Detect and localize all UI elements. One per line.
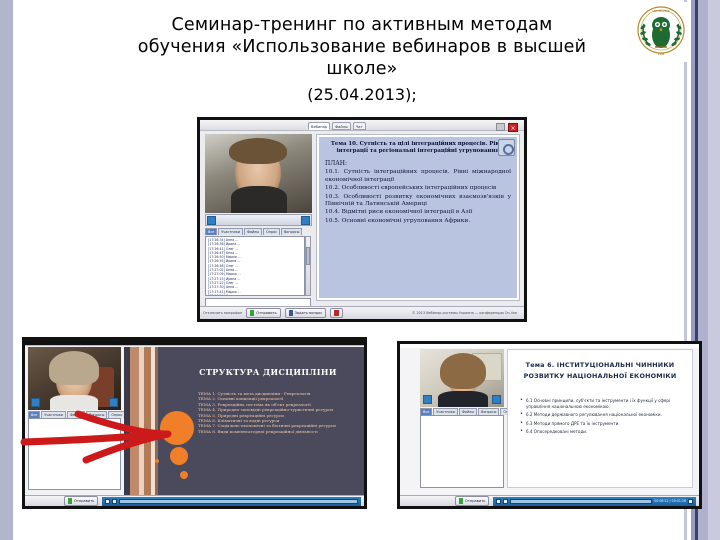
- chat-tabs[interactable]: Все Участники Файлы Вопросы Опрос: [420, 408, 517, 415]
- speaker-icon[interactable]: [301, 216, 310, 225]
- stop-icon[interactable]: [112, 499, 117, 504]
- webinar-window-main[interactable]: Вебинар Файлы Чат × Все Участники Файлы: [197, 117, 527, 322]
- video-shoulders: [438, 391, 488, 407]
- svg-text:UNIVERSITAS: UNIVERSITAS: [652, 9, 669, 13]
- chat-tab-questions[interactable]: Вопросы: [478, 408, 499, 415]
- left-edge-stripe: [0, 0, 13, 540]
- deck-list: ТЕМА 1. Сутність та мета дисципліни - Ре…: [198, 391, 362, 434]
- presentation-pane[interactable]: Тема 6. ІНСТИТУЦІОНАЛЬНІ ЧИННИКИ РОЗВИТК…: [507, 349, 693, 488]
- fullscreen-icon[interactable]: [688, 499, 693, 504]
- title-line-3: школе»: [104, 58, 620, 80]
- chat-tab-participants[interactable]: Участники: [218, 228, 243, 235]
- red-arrow-annotation: [18, 408, 183, 480]
- title-line-2: обучения «Использование вебинаров в высш…: [104, 36, 620, 58]
- player-bar[interactable]: 00:08:12 / 00:41:26: [493, 497, 696, 506]
- send-button-label: Отправить: [74, 497, 94, 506]
- chat-log[interactable]: [420, 415, 504, 488]
- tab-chat[interactable]: Чат: [353, 122, 366, 130]
- webinar-window-institutions[interactable]: Все Участники Файлы Вопросы Опрос Тема 6…: [397, 341, 702, 509]
- mute-mic-label[interactable]: Отключить микрофон: [203, 311, 242, 315]
- video-hair: [229, 138, 287, 164]
- play-icon[interactable]: [105, 499, 110, 504]
- window-toolbar[interactable]: Отправить: [25, 495, 364, 506]
- upload-icon: [250, 310, 254, 316]
- video-shoulders: [231, 186, 287, 213]
- minimize-button[interactable]: [496, 123, 505, 131]
- chat-message: [17:27:54] Ирина ...: [208, 294, 302, 296]
- window-titlebar: [400, 344, 699, 348]
- slide-bullets: 6.1 Основні принципи, суб'єкти та інстру…: [520, 398, 680, 435]
- ask-question-label: Задать вопрос: [295, 309, 323, 318]
- send-button[interactable]: Отправить: [455, 496, 489, 506]
- speaker-icon[interactable]: [109, 398, 118, 407]
- stop-icon[interactable]: [503, 499, 508, 504]
- deck-title: СТРУКТУРА ДИСЦИПЛІНИ: [178, 367, 358, 377]
- chat-log[interactable]: [17:26:34] Анна ... [17:26:38] Ирина ...…: [205, 236, 305, 296]
- slide-item: 10.5. Основні економічні угруповання Афр…: [325, 218, 511, 225]
- send-button[interactable]: Отправить: [64, 496, 98, 506]
- player-progress[interactable]: [119, 499, 358, 504]
- title-line-1: Семинар-тренинг по активным методам: [104, 14, 620, 36]
- speaker-icon[interactable]: [492, 395, 501, 404]
- window-body: Вебинар Файлы Чат × Все Участники Файлы: [200, 120, 524, 319]
- chat-tab-files[interactable]: Файлы: [459, 408, 477, 415]
- ask-question-button[interactable]: Задать вопрос: [285, 308, 327, 318]
- slide-title: Тема 10. Сутність та цілі інтеграційних …: [325, 141, 511, 155]
- screen-share-icon[interactable]: [207, 216, 216, 225]
- question-icon: [289, 310, 293, 316]
- video-hair: [440, 353, 486, 389]
- slide-item: 10.2. Особливості європейських інтеграці…: [325, 185, 511, 192]
- chat-tab-poll[interactable]: Опрос: [263, 228, 280, 235]
- record-button[interactable]: [330, 308, 343, 318]
- tab-webinar[interactable]: Вебинар: [308, 122, 330, 130]
- scrollbar-thumb[interactable]: [306, 247, 310, 264]
- slide-canvas: Тема 6. ІНСТИТУЦІОНАЛЬНІ ЧИННИКИ РОЗВИТК…: [508, 350, 692, 435]
- svg-text:1993: 1993: [658, 52, 665, 56]
- chat-tab-all[interactable]: Все: [205, 228, 217, 235]
- slide-item: 10.3. Особливості розвитку економічних в…: [325, 194, 511, 209]
- chat-tabs[interactable]: Все Участники Файлы Опрос Вопросы: [205, 228, 302, 235]
- presentation-slide: Семинар-тренинг по активным методам обуч…: [0, 0, 720, 540]
- screen-share-icon[interactable]: [31, 398, 40, 407]
- presentation-pane[interactable]: Тема 10. Сутність та цілі інтеграційних …: [316, 134, 520, 301]
- slide-title-line-2: РОЗВИТКУ НАЦІОНАЛЬНОЇ ЕКОНОМІКИ: [520, 371, 680, 382]
- window-toolbar[interactable]: Отправить 00:08:12 / 00:41:26: [400, 495, 699, 506]
- chat-tab-participants[interactable]: Участники: [433, 408, 458, 415]
- slide-item: 10.1. Сутність інтеграційних процесів. Р…: [325, 169, 511, 184]
- window-toolbar[interactable]: Отключить микрофон Отправить Задать вопр…: [200, 306, 524, 319]
- close-icon[interactable]: ×: [508, 123, 518, 132]
- window-tabs[interactable]: Вебинар Файлы Чат: [308, 122, 366, 130]
- send-button-label: Отправить: [465, 497, 485, 506]
- screen-share-icon[interactable]: [423, 395, 432, 404]
- player-bar[interactable]: [102, 497, 361, 506]
- slide-title-line-1: Тема 6. ІНСТИТУЦІОНАЛЬНІ ЧИННИКИ: [520, 360, 680, 371]
- player-time-label: 00:08:12 / 00:41:26: [654, 499, 686, 503]
- presenter-video[interactable]: [205, 134, 312, 213]
- window-body: Все Участники Файлы Вопросы Опрос Тема 6…: [400, 344, 699, 506]
- video-volume-bar[interactable]: [205, 214, 312, 226]
- chat-scrollbar[interactable]: [305, 236, 311, 296]
- chat-tab-questions[interactable]: Вопросы: [281, 228, 302, 235]
- video-hair: [49, 351, 99, 385]
- slide-bullet: 6.3 Методи прямого ДРЕ та їх інструменти…: [520, 421, 680, 427]
- chat-tab-all[interactable]: Все: [420, 408, 432, 415]
- slide-settings-icon[interactable]: [498, 139, 515, 156]
- slide-canvas: Тема 10. Сутність та цілі інтеграційних …: [319, 137, 517, 298]
- player-progress[interactable]: [510, 499, 652, 504]
- upload-icon: [68, 498, 72, 504]
- play-icon[interactable]: [496, 499, 501, 504]
- send-button-label: Отправить: [256, 309, 276, 318]
- slide-bullet: 6.4 Опосередковані методи.: [520, 429, 680, 435]
- upload-icon: [459, 498, 463, 504]
- send-button[interactable]: Отправить: [246, 308, 280, 318]
- presenter-video[interactable]: [420, 349, 504, 407]
- right-edge-stripe-5: [708, 0, 720, 540]
- window-titlebar: [25, 340, 364, 346]
- deck-item: ТЕМА 8. Види компенсаторної рекреаційної…: [198, 429, 362, 434]
- chat-tab-files[interactable]: Файлы: [244, 228, 262, 235]
- record-icon: [334, 310, 339, 316]
- presenter-video[interactable]: [28, 347, 121, 410]
- owl-emblem-logo: UNIVERSITAS 1993: [634, 2, 688, 62]
- tab-files[interactable]: Файлы: [332, 122, 351, 130]
- slide-plan-label: ПЛАН:: [325, 160, 511, 167]
- slide-bullet: 6.1 Основні принципи, суб'єкти та інстру…: [520, 398, 680, 410]
- slide-bullet: 6.2 Методи державного регулювання націон…: [520, 412, 680, 418]
- page-title: Семинар-тренинг по активным методам обуч…: [104, 14, 620, 106]
- title-date: (25.04.2013);: [104, 84, 620, 106]
- copyright-text: © 2013 Вебинар-системы Украина — конфере…: [412, 311, 521, 315]
- slide-item: 10.4. Відмітні риси економічної інтеграц…: [325, 209, 511, 216]
